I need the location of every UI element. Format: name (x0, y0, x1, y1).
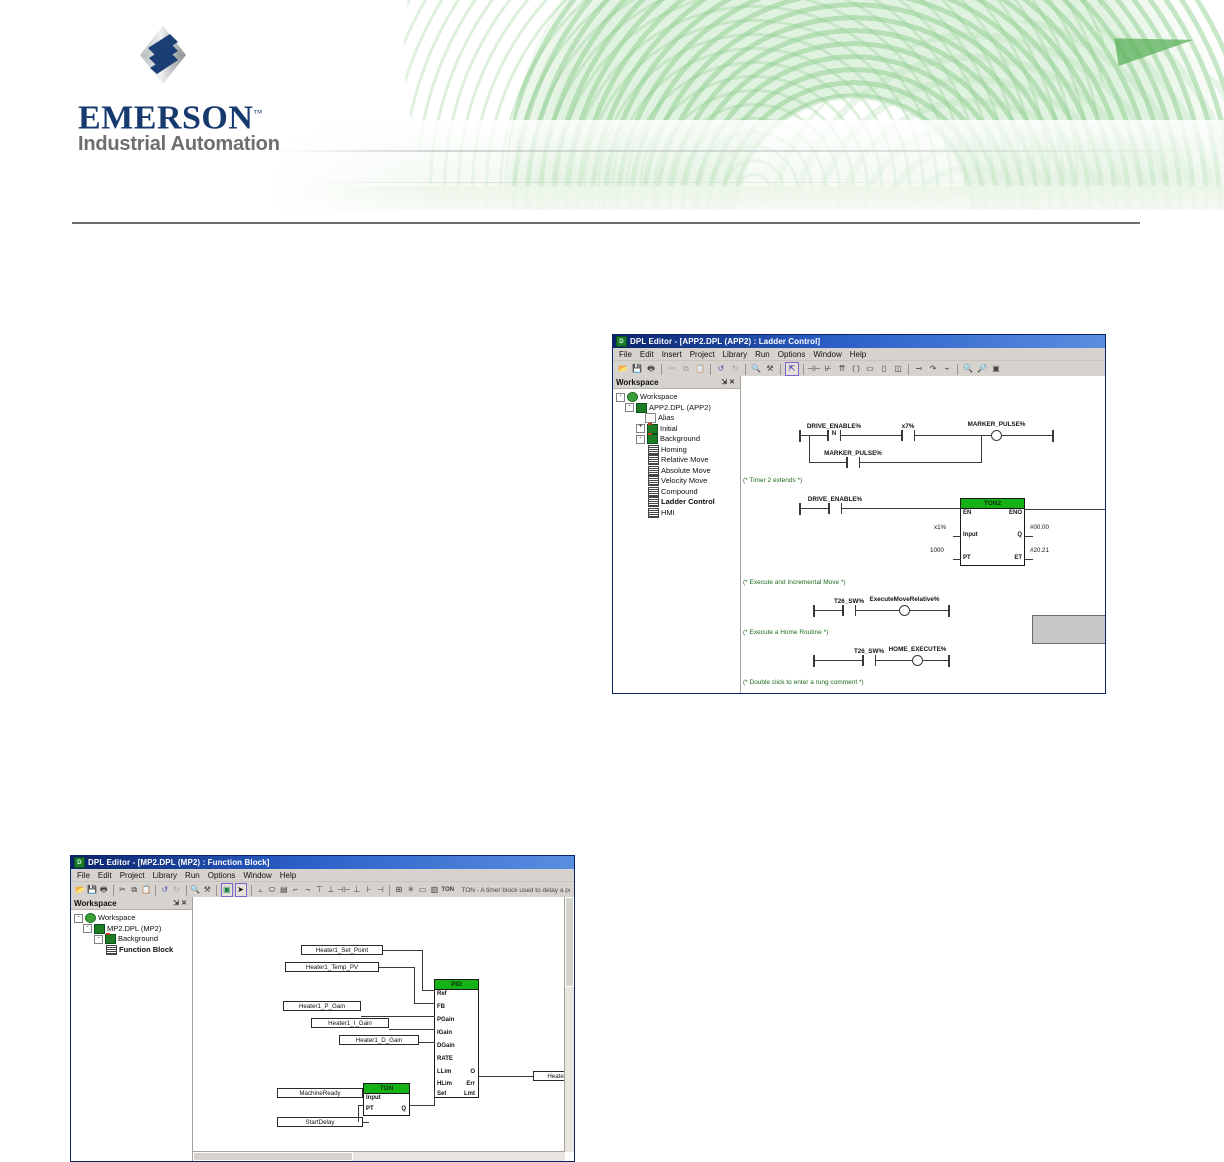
globe-icon (627, 392, 638, 402)
rung2-pt-value[interactable]: 1000 (930, 547, 944, 554)
function-block-icon (106, 945, 117, 955)
coil-label: HOME_EXECUTE% (889, 646, 947, 653)
pin-fb: FB (437, 1004, 445, 1010)
fb-toolbar-separator-2 (155, 885, 156, 896)
coil-label: MARKER_PULSE% (968, 421, 1026, 428)
rung2-wire-a (800, 508, 828, 509)
selected-block-placeholder[interactable] (1032, 615, 1105, 644)
task-folder-icon (105, 934, 116, 944)
project-folder-icon (636, 403, 647, 413)
fb-var-heater1-d-gain[interactable]: Heater1_D_Gain (339, 1035, 419, 1045)
rung4-wire-b (876, 660, 912, 661)
dpl-editor-icon: D (616, 336, 627, 347)
task-folder-icon (647, 434, 658, 444)
branch-icon[interactable]: ⊸ (913, 363, 925, 375)
pin-et: ET (1014, 555, 1022, 561)
trademark-symbol: ™ (253, 108, 262, 118)
tree-item-homing[interactable]: Homing (616, 445, 738, 456)
tree-expander-project[interactable]: - (625, 403, 634, 412)
pin-dgain: DGain (437, 1043, 455, 1049)
rung2-comment[interactable]: (* Timer 2 extends *) (743, 477, 802, 484)
pin-rate: RATE (437, 1056, 453, 1062)
ladder-window-titlebar[interactable]: D DPL Editor - [APP2.DPL (APP2) : Ladder… (613, 335, 1105, 348)
fb-menubar[interactable]: File Edit Project Library Run Options Wi… (71, 869, 574, 882)
variable-icon[interactable]: ▣ (221, 883, 233, 897)
tree-item-workspace[interactable]: - Workspace (616, 392, 738, 403)
cut-icon[interactable]: ✂ (666, 363, 678, 375)
fb-window-title: DPL Editor - [MP2.DPL (MP2) : Function B… (88, 858, 270, 867)
close-icon[interactable]: ✕ (181, 900, 189, 907)
ladder-icon (648, 455, 659, 465)
contact-a-icon[interactable]: ⊣⊢ (338, 884, 350, 896)
ladder-editor-window[interactable]: D DPL Editor - [APP2.DPL (APP2) : Ladder… (612, 334, 1106, 694)
fb-toolbar-status-text: TON - A timer block used to delay a posi… (461, 887, 570, 894)
coil-label: ExecuteMoveRelative% (870, 596, 940, 603)
function-block-editor-window[interactable]: D DPL Editor - [MP2.DPL (MP2) : Function… (70, 855, 575, 1162)
tree-item-background[interactable]: - Background (74, 934, 190, 945)
menu-window[interactable]: Window (813, 350, 841, 359)
rung1-wire-c (915, 435, 991, 436)
function-icon[interactable]: ◫ (892, 363, 904, 375)
fb-toolbar-separator-1 (113, 885, 114, 896)
menu-options[interactable]: Options (208, 871, 236, 880)
tree-label: Background (660, 434, 700, 445)
pin-igain: IGain (437, 1030, 452, 1036)
tree-label: Relative Move (661, 455, 709, 466)
contact-label: T26_SW% (834, 598, 864, 605)
menu-window[interactable]: Window (243, 871, 271, 880)
tree-label: Absolute Move (661, 466, 711, 477)
rung3-contact-t26sw[interactable]: T26_SW% (842, 605, 856, 617)
contact-label: T26_SW% (854, 648, 884, 655)
rung1-branch-right-v (981, 435, 982, 463)
fb-var-start-delay[interactable]: StartDelay (277, 1117, 363, 1127)
tree-label: APP2.DPL (APP2) (649, 403, 711, 414)
line-4-icon[interactable]: ⊥ (326, 884, 336, 896)
tree-expander-initial[interactable]: + (636, 424, 645, 433)
tree-label: Ladder Control (661, 497, 715, 508)
wire-igain-h (389, 1029, 435, 1030)
open-icon[interactable]: 📂 (75, 884, 85, 896)
fb-toolbar-separator-3 (186, 885, 187, 896)
fb-horizontal-scrollbar[interactable] (193, 1151, 565, 1161)
cut-icon[interactable]: ✂ (118, 884, 128, 896)
block-title: PID (435, 980, 478, 990)
pin-icon[interactable]: ⇲ (173, 900, 181, 907)
menu-help[interactable]: Help (280, 871, 296, 880)
page-header-banner: EMERSON™ Industrial Automation (0, 0, 1224, 210)
rung1-branch-wire-b (860, 462, 982, 463)
menu-edit[interactable]: Edit (98, 871, 112, 880)
ladder-icon (648, 466, 659, 476)
wire-setpoint-h (383, 950, 423, 951)
fb-workspace-panel[interactable]: Workspace ⇲✕ - Workspace - MP2.DPL (MP2) (71, 897, 193, 1161)
copy-icon[interactable]: ⧉ (680, 363, 692, 375)
tree-label: Workspace (640, 392, 677, 403)
tree-label: Velocity Move (661, 476, 707, 487)
save-icon[interactable]: 💾 (87, 884, 97, 896)
tree-expander-project[interactable]: - (83, 924, 92, 933)
rung1-left-rail (799, 430, 801, 442)
redo-icon[interactable]: ↻ (172, 884, 182, 896)
find-icon[interactable]: 🔍 (750, 363, 762, 375)
pin-q: Q (1017, 532, 1022, 538)
wire-temppv-v (414, 967, 415, 1003)
fb-block-ton[interactable]: TON Input PT Q (363, 1083, 410, 1116)
rung3-coil-execute-move-relative[interactable]: ExecuteMoveRelative% (899, 605, 910, 616)
pin-icon[interactable]: ⇲ (721, 379, 729, 386)
wire-machineready-h (363, 1093, 365, 1094)
paste-icon[interactable]: 📋 (141, 884, 151, 896)
wire-temppv-h (379, 967, 415, 968)
fb-toolbar-separator-4 (216, 885, 217, 896)
rung2-input-value[interactable]: x1% (934, 524, 946, 531)
tree-expander-workspace[interactable]: - (74, 914, 83, 923)
emerson-tagline: Industrial Automation (78, 134, 284, 154)
tree-item-function-block[interactable]: Function Block (74, 945, 190, 956)
tree-expander-background[interactable]: - (636, 435, 645, 444)
fit-icon[interactable]: ▣ (990, 363, 1002, 375)
pointer-icon[interactable]: ➤ (235, 883, 247, 897)
tree-label: Initial (660, 424, 678, 435)
contact-label: MARKER_PULSE% (824, 450, 882, 457)
rung2-et-value[interactable]: #20.21 (1030, 547, 1049, 554)
wire-startdelay-v (358, 1105, 359, 1122)
rung1-branch-contact-marker-pulse[interactable]: MARKER_PULSE% (846, 457, 860, 469)
toolbar-separator-1 (661, 364, 662, 375)
rung4-wire-c (923, 660, 948, 661)
tree-item-ladder-control[interactable]: Ladder Control (616, 497, 738, 508)
wire-ton-q-v (434, 1090, 435, 1106)
rung4-wire-a (814, 660, 862, 661)
pin-input: Input (366, 1095, 381, 1101)
fb-hscroll-thumb[interactable] (193, 1152, 353, 1161)
tree-item-project[interactable]: - MP2.DPL (MP2) (74, 924, 190, 935)
pin-input: Input (963, 532, 978, 538)
pin-en: EN (963, 510, 971, 516)
wire-pid-out-h (479, 1076, 533, 1077)
rung1-branch-wire-a (809, 462, 846, 463)
print-icon[interactable]: 🖶 (99, 884, 109, 896)
ladder-workspace-header: Workspace ⇲✕ (613, 376, 740, 389)
rung2-input-stub (953, 536, 961, 537)
label-icon[interactable]: ⊞ (394, 884, 404, 896)
rung2-block-ton2[interactable]: TON2 EN ENO Input Q PT ET (960, 498, 1025, 566)
rung1-coil-marker-pulse[interactable]: MARKER_PULSE% (991, 430, 1002, 441)
undo-icon[interactable]: ↺ (715, 363, 727, 375)
menu-library[interactable]: Library (153, 871, 177, 880)
menu-edit[interactable]: Edit (640, 350, 654, 359)
ladder-window-title: DPL Editor - [APP2.DPL (APP2) : Ladder C… (630, 337, 820, 346)
menu-options[interactable]: Options (778, 350, 806, 359)
tree-label: MP2.DPL (MP2) (107, 924, 161, 935)
save-icon[interactable]: 💾 (631, 363, 643, 375)
wire-setpoint-h2 (422, 990, 435, 991)
emerson-diamond-logo-icon (140, 26, 186, 84)
contact-no-icon[interactable]: ⊣⊢ (808, 363, 820, 375)
wire-setpoint-v (422, 950, 423, 990)
page-root: EMERSON™ Industrial Automation D DPL Edi… (0, 0, 1224, 1162)
zoom-out-icon[interactable]: 🔎 (976, 363, 988, 375)
emerson-wordmark: EMERSON™ (78, 96, 284, 135)
pin-o: O (470, 1069, 475, 1075)
tree-item-alias[interactable]: Alias (616, 413, 738, 424)
fb-vertical-scrollbar[interactable] (564, 897, 574, 1152)
rung4-contact-t26sw[interactable]: T26_SW% (862, 655, 876, 667)
fb-toolbar-separator-6 (389, 885, 390, 896)
menu-insert[interactable]: Insert (662, 350, 682, 359)
tree-item-absolute-move[interactable]: Absolute Move (616, 466, 738, 477)
pin-set: Set (437, 1091, 446, 1097)
fb-var-heater1-i-gain[interactable]: Heater1_I_Gain (311, 1018, 389, 1028)
ladder-canvas[interactable]: DRIVE_ENABLE% N x7% MARKER_PULSE% MARKER… (741, 376, 1105, 693)
tree-item-project[interactable]: - APP2.DPL (APP2) (616, 403, 738, 414)
rung1-wire-d (1002, 435, 1052, 436)
contact-nc-icon[interactable]: ⊬ (822, 363, 834, 375)
tree-expander-background[interactable]: - (94, 935, 103, 944)
fb-var-heater1-temp-pv[interactable]: Heater1_Temp_PV (285, 962, 379, 972)
tree-item-workspace[interactable]: - Workspace (74, 913, 190, 924)
fb-var-heater1-set-point[interactable]: Heater1_Set_Point (301, 945, 383, 955)
dpl-editor-icon: D (74, 857, 85, 868)
menu-file[interactable]: File (77, 871, 90, 880)
toolbar-separator-7 (957, 364, 958, 375)
rung3-wire-c (910, 610, 948, 611)
toolbar-separator-4 (780, 364, 781, 375)
rung1-branch-left-v (809, 435, 810, 463)
rung1-wire-a (800, 435, 827, 436)
rung2-q-value[interactable]: #00.00 (1030, 524, 1049, 531)
block-icon[interactable]: ▭ (864, 363, 876, 375)
select-tool-icon[interactable]: ⇱ (785, 362, 799, 376)
rung3-wire-b (856, 610, 899, 611)
header-divider (72, 222, 1140, 224)
fb-workspace-tree[interactable]: - Workspace - MP2.DPL (MP2) - Background… (71, 910, 192, 955)
contact-label: DRIVE_ENABLE% (807, 423, 861, 430)
tree-expander-alias (636, 415, 643, 422)
rung2-eno-wire (1025, 509, 1105, 510)
block-title: TON (364, 1084, 409, 1094)
rung4-comment[interactable]: (* Execute a Home Routine *) (743, 629, 828, 636)
pin-hlim: HLim (437, 1081, 452, 1087)
rung3-right-rail (948, 605, 950, 617)
tree-label: Background (118, 934, 158, 945)
print-icon[interactable]: 🖶 (645, 363, 657, 375)
fb-block-pid[interactable]: PID Ref FB PGain IGain DGain RATE LLim H… (434, 979, 479, 1098)
rung1-wire-b (841, 435, 901, 436)
brand-text: EMERSON (78, 99, 253, 136)
block-icon[interactable]: ▥ (429, 884, 439, 896)
rung2-left-rail (799, 503, 801, 515)
rung4-coil-home-execute[interactable]: HOME_EXECUTE% (912, 655, 923, 666)
input-icon[interactable]: ⫠ (255, 884, 265, 896)
menu-file[interactable]: File (619, 350, 632, 359)
rung2-wire-b (842, 508, 960, 509)
contact-b-icon[interactable]: ⊥ (352, 884, 362, 896)
ladder-workspace-tree[interactable]: - Workspace - APP2.DPL (APP2) Alias + (613, 389, 740, 518)
wire-ton-q-h (410, 1105, 435, 1106)
rung5-comment[interactable]: (* Double click to enter a rung comment … (743, 679, 864, 686)
tree-label: Workspace (98, 913, 135, 924)
tree-item-background[interactable]: - Background (616, 434, 738, 445)
pin-pgain: PGain (437, 1017, 454, 1023)
coil-icon[interactable]: ( ) (850, 363, 862, 375)
ladder-icon (648, 508, 659, 518)
task-folder-icon (647, 424, 658, 434)
project-folder-icon (94, 924, 105, 934)
rung2-pt-stub (953, 559, 961, 560)
pin-lmt: Lmt (464, 1091, 475, 1097)
paste-icon[interactable]: 📋 (694, 363, 706, 375)
rung1-contact-x7[interactable]: x7% (901, 430, 915, 442)
fb-window-titlebar[interactable]: D DPL Editor - [MP2.DPL (MP2) : Function… (71, 856, 574, 869)
tree-label: HMI (661, 508, 675, 519)
open-icon[interactable]: 📂 (617, 363, 629, 375)
rung2-et-stub (1025, 559, 1033, 560)
wire-icon[interactable]: ⌁ (941, 363, 953, 375)
compile-icon[interactable]: ⚒ (202, 884, 212, 896)
alias-icon (645, 413, 656, 423)
line-1-icon[interactable]: ⌐ (291, 884, 301, 896)
rung3-comment[interactable]: (* Execute and Incremental Move *) (743, 579, 846, 586)
fb-var-heater1-p-gain[interactable]: Heater1_P_Gain (283, 1001, 361, 1011)
pin-ref: Ref (437, 991, 447, 997)
tree-label: Function Block (119, 945, 173, 956)
pid-o-stub (479, 1076, 484, 1077)
tree-item-compound[interactable]: Compound (616, 487, 738, 498)
line-3-icon[interactable]: ⊤ (314, 884, 324, 896)
ladder-icon (648, 476, 659, 486)
fb-vscroll-thumb[interactable] (565, 897, 574, 987)
contact-c-icon[interactable]: ⊦ (364, 884, 374, 896)
fb-workspace-header: Workspace ⇲✕ (71, 897, 192, 910)
tree-item-initial[interactable]: + Initial (616, 424, 738, 435)
close-icon[interactable]: ✕ (729, 379, 737, 386)
block2-icon[interactable]: ▯ (878, 363, 890, 375)
pin-eno: ENO (1009, 510, 1022, 516)
redo-icon[interactable]: ↻ (729, 363, 741, 375)
tree-label: Alias (658, 413, 674, 424)
ladder-workspace-title: Workspace (616, 378, 659, 387)
emerson-logo: EMERSON™ Industrial Automation (78, 26, 288, 138)
rung3-left-rail (813, 605, 815, 617)
compile-icon[interactable]: ⚒ (764, 363, 776, 375)
tree-label: Homing (661, 445, 687, 456)
wire-temppv-h2 (414, 1003, 435, 1004)
zoom-in-icon[interactable]: 🔍 (962, 363, 974, 375)
globe-icon (85, 913, 96, 923)
toolbar-separator-5 (803, 364, 804, 375)
block-title: TON2 (961, 499, 1024, 509)
menu-run[interactable]: Run (185, 871, 200, 880)
menu-help[interactable]: Help (850, 350, 866, 359)
contact-label: x7% (902, 423, 915, 430)
rung1-right-rail (1052, 430, 1054, 442)
fb-workspace-panel-buttons[interactable]: ⇲✕ (173, 899, 189, 907)
menu-library[interactable]: Library (723, 350, 747, 359)
wire-pgain-h (361, 1016, 435, 1017)
contact-label: DRIVE_ENABLE% (808, 496, 862, 503)
fb-var-machine-ready[interactable]: MachineReady (277, 1088, 363, 1098)
ton-icon[interactable]: TON (441, 884, 454, 896)
rung1-contact-drive-enable[interactable]: DRIVE_ENABLE% N (827, 430, 841, 442)
contact-pos-icon[interactable]: ⇈ (836, 363, 848, 375)
pin-pt: PT (366, 1106, 374, 1112)
tree-expander-workspace[interactable]: - (616, 393, 625, 402)
ladder-icon (648, 497, 659, 507)
fb-canvas[interactable]: PID Ref FB PGain IGain DGain RATE LLim H… (193, 897, 574, 1161)
rung4-left-rail (813, 655, 815, 667)
rung3-wire-a (814, 610, 842, 611)
menu-project[interactable]: Project (690, 350, 715, 359)
find-icon[interactable]: 🔍 (190, 884, 200, 896)
pin-q: Q (401, 1106, 406, 1112)
negated-marker: N (832, 431, 836, 437)
oval-icon[interactable]: ▭ (418, 884, 428, 896)
ladder-menubar[interactable]: File Edit Insert Project Library Run Opt… (613, 348, 1105, 361)
toolbar-separator-2 (710, 364, 711, 375)
line-2-icon[interactable]: ¬ (303, 884, 313, 896)
dot-icon[interactable]: ✳ (406, 884, 416, 896)
rung4-right-rail2 (948, 655, 950, 667)
undo-icon[interactable]: ↺ (160, 884, 170, 896)
link-icon[interactable]: ↷ (927, 363, 939, 375)
tree-label: Compound (661, 487, 698, 498)
fb-workspace-title: Workspace (74, 899, 117, 908)
toolbar-separator-6 (908, 364, 909, 375)
ladder-icon (648, 445, 659, 455)
pin-err: Err (466, 1081, 475, 1087)
ladder-workspace-panel[interactable]: Workspace ⇲✕ - Workspace - APP2.DPL (APP… (613, 376, 741, 693)
wire-dgain-h (419, 1042, 435, 1043)
copy-icon[interactable]: ⧉ (129, 884, 139, 896)
menu-run[interactable]: Run (755, 350, 770, 359)
ladder-workspace-panel-buttons[interactable]: ⇲✕ (721, 378, 737, 386)
ladder-icon (648, 487, 659, 497)
fb-toolbar-separator-5 (251, 885, 252, 896)
output-icon[interactable]: ⬭ (267, 884, 277, 896)
wire-startdelay-h2 (358, 1105, 364, 1106)
contact-d-icon[interactable]: ⊣ (375, 884, 385, 896)
pin-pt: PT (963, 555, 971, 561)
menu-project[interactable]: Project (120, 871, 145, 880)
pin-llim: LLim (437, 1069, 451, 1075)
comment-icon[interactable]: ▤ (279, 884, 289, 896)
tree-item-hmi[interactable]: HMI (616, 508, 738, 519)
toolbar-separator-3 (745, 364, 746, 375)
wire-startdelay-h (363, 1122, 369, 1123)
tree-item-relative-move[interactable]: Relative Move (616, 455, 738, 466)
rung2-contact-drive-enable[interactable]: DRIVE_ENABLE% (828, 503, 842, 515)
rung2-q-stub (1025, 536, 1033, 537)
tree-item-velocity-move[interactable]: Velocity Move (616, 476, 738, 487)
